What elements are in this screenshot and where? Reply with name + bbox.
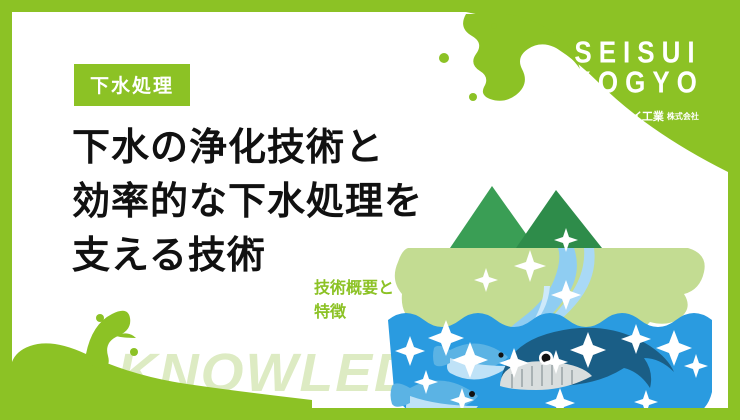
hero-banner: SEISUI KOGYO セイスイ工業 株式会社 下水処理 下水の浄化技術と 効…: [0, 0, 740, 420]
logo-company-suffix: 株式会社: [667, 111, 699, 122]
category-badge[interactable]: 下水処理: [74, 64, 190, 106]
subtitle-line-1: 技術概要と: [314, 276, 394, 300]
logo-company-row: セイスイ工業 株式会社: [577, 108, 699, 124]
logo-company-name: セイスイ工業: [598, 108, 664, 124]
water-droplet-mark-icon: [577, 110, 595, 123]
logo-text-line2: KOGYO: [572, 64, 704, 99]
bottom-left-splash-decoration: [12, 288, 312, 408]
title-line-3: 支える技術: [72, 228, 492, 282]
page-title: 下水の浄化技術と 効率的な下水処理を 支える技術: [72, 120, 492, 282]
title-line-1: 下水の浄化技術と: [72, 120, 492, 174]
page-subtitle: 技術概要と 特徴: [314, 276, 394, 324]
banner-inner-panel: SEISUI KOGYO セイスイ工業 株式会社 下水処理 下水の浄化技術と 効…: [12, 12, 728, 408]
company-logo[interactable]: SEISUI KOGYO セイスイ工業 株式会社: [548, 12, 728, 124]
title-line-2: 効率的な下水処理を: [72, 174, 492, 228]
subtitle-line-2: 特徴: [314, 300, 394, 324]
